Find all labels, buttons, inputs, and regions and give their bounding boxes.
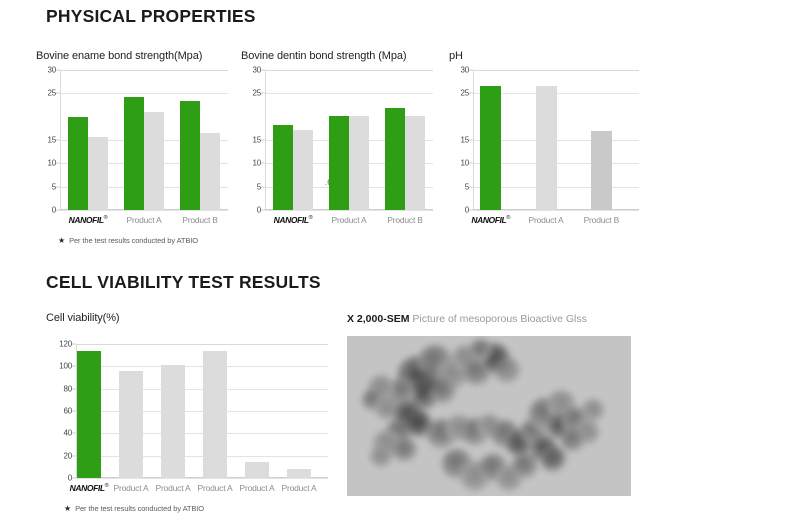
x-category-label: Product A: [331, 215, 366, 225]
bar: [77, 351, 101, 478]
y-tick-label: 10: [253, 159, 262, 168]
bar: [119, 371, 143, 478]
bar: [405, 116, 425, 210]
y-tick-label: 100: [59, 362, 72, 371]
x-category-label: NANOFIL®: [471, 215, 510, 225]
bar: [591, 131, 612, 210]
y-tick-mark: [56, 70, 60, 71]
y-tick-mark: [72, 388, 76, 389]
gridline: [76, 433, 328, 434]
y-tick-mark: [261, 210, 265, 211]
y-tick-label: 10: [48, 159, 57, 168]
x-category-label: Product B: [387, 215, 423, 225]
y-tick-label: 5: [52, 182, 56, 191]
bar: [349, 116, 369, 210]
y-tick-mark: [72, 478, 76, 479]
y-tick-label: 5: [465, 182, 469, 191]
x-category-label: Product A: [126, 215, 161, 225]
footnote-text: Per the test results conducted by ATBIO: [75, 504, 204, 513]
x-category-label: NANOFIL®: [70, 483, 109, 493]
bar: [273, 125, 293, 210]
y-tick-label: 5: [257, 182, 261, 191]
sem-magnification-label: X 2,000-SEM: [347, 313, 409, 325]
plot-area: 120100806040200NANOFIL®Product AProduct …: [76, 344, 328, 478]
y-tick-label: 120: [59, 340, 72, 349]
x-category-label: Product A: [281, 483, 316, 493]
y-tick-label: 30: [253, 66, 262, 75]
brand-name: NANOFIL: [70, 483, 105, 493]
bar: [124, 97, 144, 210]
y-tick-label: 40: [64, 429, 73, 438]
y-tick-label: 25: [48, 89, 57, 98]
brand-name: NANOFIL: [471, 215, 506, 225]
y-tick-label: 10: [461, 159, 470, 168]
brand-name: NANOFIL: [69, 215, 104, 225]
gridline: [76, 478, 328, 479]
sem-description-label: Picture of mesoporous Bioactive Glss: [412, 313, 587, 325]
x-category-label: Product A: [239, 483, 274, 493]
bar: [245, 462, 269, 478]
gridline: [265, 70, 433, 71]
chart-title: Bovine ename bond strength(Mpa): [36, 50, 202, 62]
gridline: [76, 389, 328, 390]
registered-mark: ®: [105, 483, 109, 489]
y-tick-label: 0: [257, 206, 261, 215]
bar: [200, 133, 220, 210]
y-tick-label: 30: [461, 66, 470, 75]
y-tick-mark: [469, 70, 473, 71]
footnote-physical: ★Per the test results conducted by ATBIO: [58, 236, 198, 245]
x-category-label: Product A: [197, 483, 232, 493]
brand-name: NANOFIL: [274, 215, 309, 225]
x-category-label: NANOFIL®: [69, 215, 108, 225]
y-tick-mark: [469, 93, 473, 94]
gridline: [60, 210, 228, 211]
bar: [180, 101, 200, 210]
gridline: [76, 366, 328, 367]
y-tick-mark: [261, 163, 265, 164]
y-tick-label: 0: [465, 206, 469, 215]
x-category-label: Product B: [182, 215, 218, 225]
plot-area: 3025151050NANOFIL®Product AProduct B: [473, 70, 639, 210]
y-tick-label: 25: [253, 89, 262, 98]
y-tick-mark: [72, 344, 76, 345]
gridline: [76, 456, 328, 457]
physical-properties-heading: PHYSICAL PROPERTIES: [46, 6, 256, 27]
bar: [536, 86, 557, 210]
gridline: [76, 411, 328, 412]
footnote-viability: ★Per the test results conducted by ATBIO: [64, 504, 204, 513]
gridline: [60, 70, 228, 71]
y-tick-mark: [56, 186, 60, 187]
bar: [385, 108, 405, 210]
registered-mark: ®: [309, 215, 313, 221]
y-tick-label: 15: [48, 136, 57, 145]
x-category-label: Product A: [155, 483, 190, 493]
gridline: [76, 344, 328, 345]
registered-mark: ®: [104, 215, 108, 221]
gridline: [265, 93, 433, 94]
y-tick-label: 25: [461, 89, 470, 98]
y-tick-mark: [469, 210, 473, 211]
y-tick-mark: [469, 186, 473, 187]
y-tick-mark: [56, 140, 60, 141]
chart-title: Cell viability(%): [46, 312, 119, 324]
y-tick-mark: [72, 366, 76, 367]
y-tick-mark: [261, 140, 265, 141]
y-tick-mark: [56, 93, 60, 94]
y-tick-label: 15: [253, 136, 262, 145]
star-icon: ★: [58, 236, 65, 245]
chart-title: pH: [449, 50, 463, 62]
y-tick-mark: [56, 163, 60, 164]
y-tick-label: 15: [461, 136, 470, 145]
chart-ph: pH 3025151050NANOFIL®Product AProduct B: [449, 50, 644, 225]
x-category-label: NANOFIL®: [274, 215, 313, 225]
y-tick-label: 0: [52, 206, 56, 215]
bar: [88, 137, 108, 210]
y-tick-mark: [72, 411, 76, 412]
plot-area: 3025151050NANOFIL®Product AProduct B: [60, 70, 228, 210]
y-tick-mark: [72, 433, 76, 434]
star-icon: ★: [64, 504, 71, 513]
y-tick-mark: [261, 186, 265, 187]
x-category-label: Product A: [113, 483, 148, 493]
bar: [293, 130, 313, 210]
bar: [68, 117, 88, 210]
y-tick-label: 20: [64, 451, 73, 460]
bar: [480, 86, 501, 210]
y-tick-mark: [72, 455, 76, 456]
registered-mark: ®: [506, 215, 510, 221]
y-tick-mark: [469, 140, 473, 141]
chart-cell-viability: Cell viability(%) 120100806040200NANOFIL…: [46, 312, 346, 502]
x-category-label: Product B: [584, 215, 620, 225]
footnote-text: Per the test results conducted by ATBIO: [69, 236, 198, 245]
sem-image: [347, 336, 631, 496]
y-tick-mark: [56, 210, 60, 211]
sem-caption: X 2,000-SEM Picture of mesoporous Bioact…: [347, 313, 587, 325]
cell-viability-heading: CELL VIABILITY TEST RESULTS: [46, 272, 321, 293]
bar: [287, 469, 311, 478]
gridline: [60, 93, 228, 94]
y-tick-label: 30: [48, 66, 57, 75]
y-tick-mark: [469, 163, 473, 164]
gridline: [473, 210, 639, 211]
y-tick-label: 0: [68, 474, 72, 483]
chart-bovine-dentin-bond-strength: Bovine dentin bond strength (Mpa) .6 302…: [241, 50, 441, 225]
bar: [144, 112, 164, 210]
y-tick-label: 80: [64, 384, 73, 393]
y-tick-mark: [261, 93, 265, 94]
plot-area: .6 3025151050NANOFIL®Product AProduct B: [265, 70, 433, 210]
y-tick-label: 60: [64, 407, 73, 416]
chart-bovine-enamel-bond-strength: Bovine ename bond strength(Mpa) 30251510…: [36, 50, 236, 225]
bar: [329, 116, 349, 210]
chart-title: Bovine dentin bond strength (Mpa): [241, 50, 406, 62]
gridline: [265, 210, 433, 211]
y-tick-mark: [261, 70, 265, 71]
bar: [161, 365, 185, 478]
x-category-label: Product A: [528, 215, 563, 225]
gridline: [473, 70, 639, 71]
bar: [203, 351, 227, 478]
